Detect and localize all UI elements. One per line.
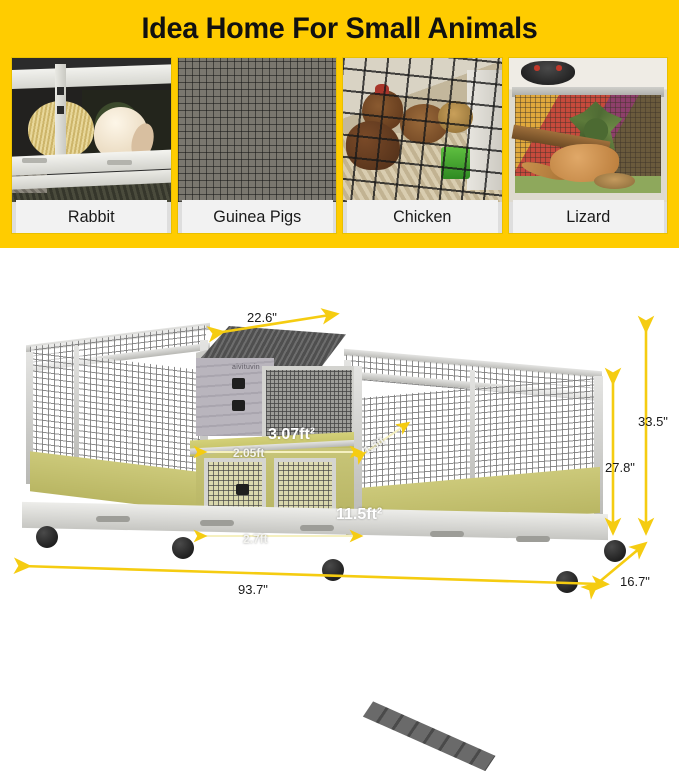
dim-lower-run-width: 2.7ft xyxy=(243,532,268,546)
ramp xyxy=(363,701,496,771)
area-upper-house: 3.07ft² xyxy=(268,426,315,444)
photo-card-chicken: Chicken xyxy=(342,57,503,234)
animal-photo-strip: Rabbit Guinea Pigs xyxy=(11,57,668,234)
brand-logo: aivituvin xyxy=(232,364,260,371)
photo-card-rabbit: Rabbit xyxy=(11,57,172,234)
caster-wheel-5 xyxy=(604,540,626,562)
rabbit-photo xyxy=(12,58,171,202)
upper-latch-top[interactable] xyxy=(232,378,245,389)
lizard-photo xyxy=(509,58,668,202)
lower-latch[interactable] xyxy=(236,484,249,495)
dim-upper-house-width: 2.05ft xyxy=(233,446,264,460)
photo-caption-lizard: Lizard xyxy=(512,200,663,233)
dim-body-height: 27.8" xyxy=(605,460,635,475)
caster-wheel-2 xyxy=(172,537,194,559)
photo-caption-guinea-pigs: Guinea Pigs xyxy=(181,200,332,233)
dim-total-depth: 16.7" xyxy=(620,574,650,589)
photo-card-lizard: Lizard xyxy=(508,57,669,234)
caster-wheel-1 xyxy=(36,526,58,548)
caster-wheel-3 xyxy=(322,559,344,581)
photo-caption-chicken: Chicken xyxy=(347,200,498,233)
area-lower-run: 11.5ft² xyxy=(336,506,382,524)
page-title: Idea Home For Small Animals xyxy=(14,12,666,46)
chicken-photo xyxy=(343,58,502,202)
guinea-pigs-photo xyxy=(178,58,337,202)
caster-wheel-4 xyxy=(556,571,578,593)
upper-latch-bottom[interactable] xyxy=(232,400,245,411)
dim-roof-depth: 22.6" xyxy=(247,310,277,325)
photo-caption-rabbit: Rabbit xyxy=(16,200,167,233)
yellow-banner: Idea Home For Small Animals xyxy=(0,0,679,248)
dim-total-height: 33.5" xyxy=(638,414,668,429)
photo-card-guinea-pigs: Guinea Pigs xyxy=(177,57,338,234)
dim-total-width: 93.7" xyxy=(238,582,268,597)
product-diagram: aivituvin xyxy=(0,248,679,634)
